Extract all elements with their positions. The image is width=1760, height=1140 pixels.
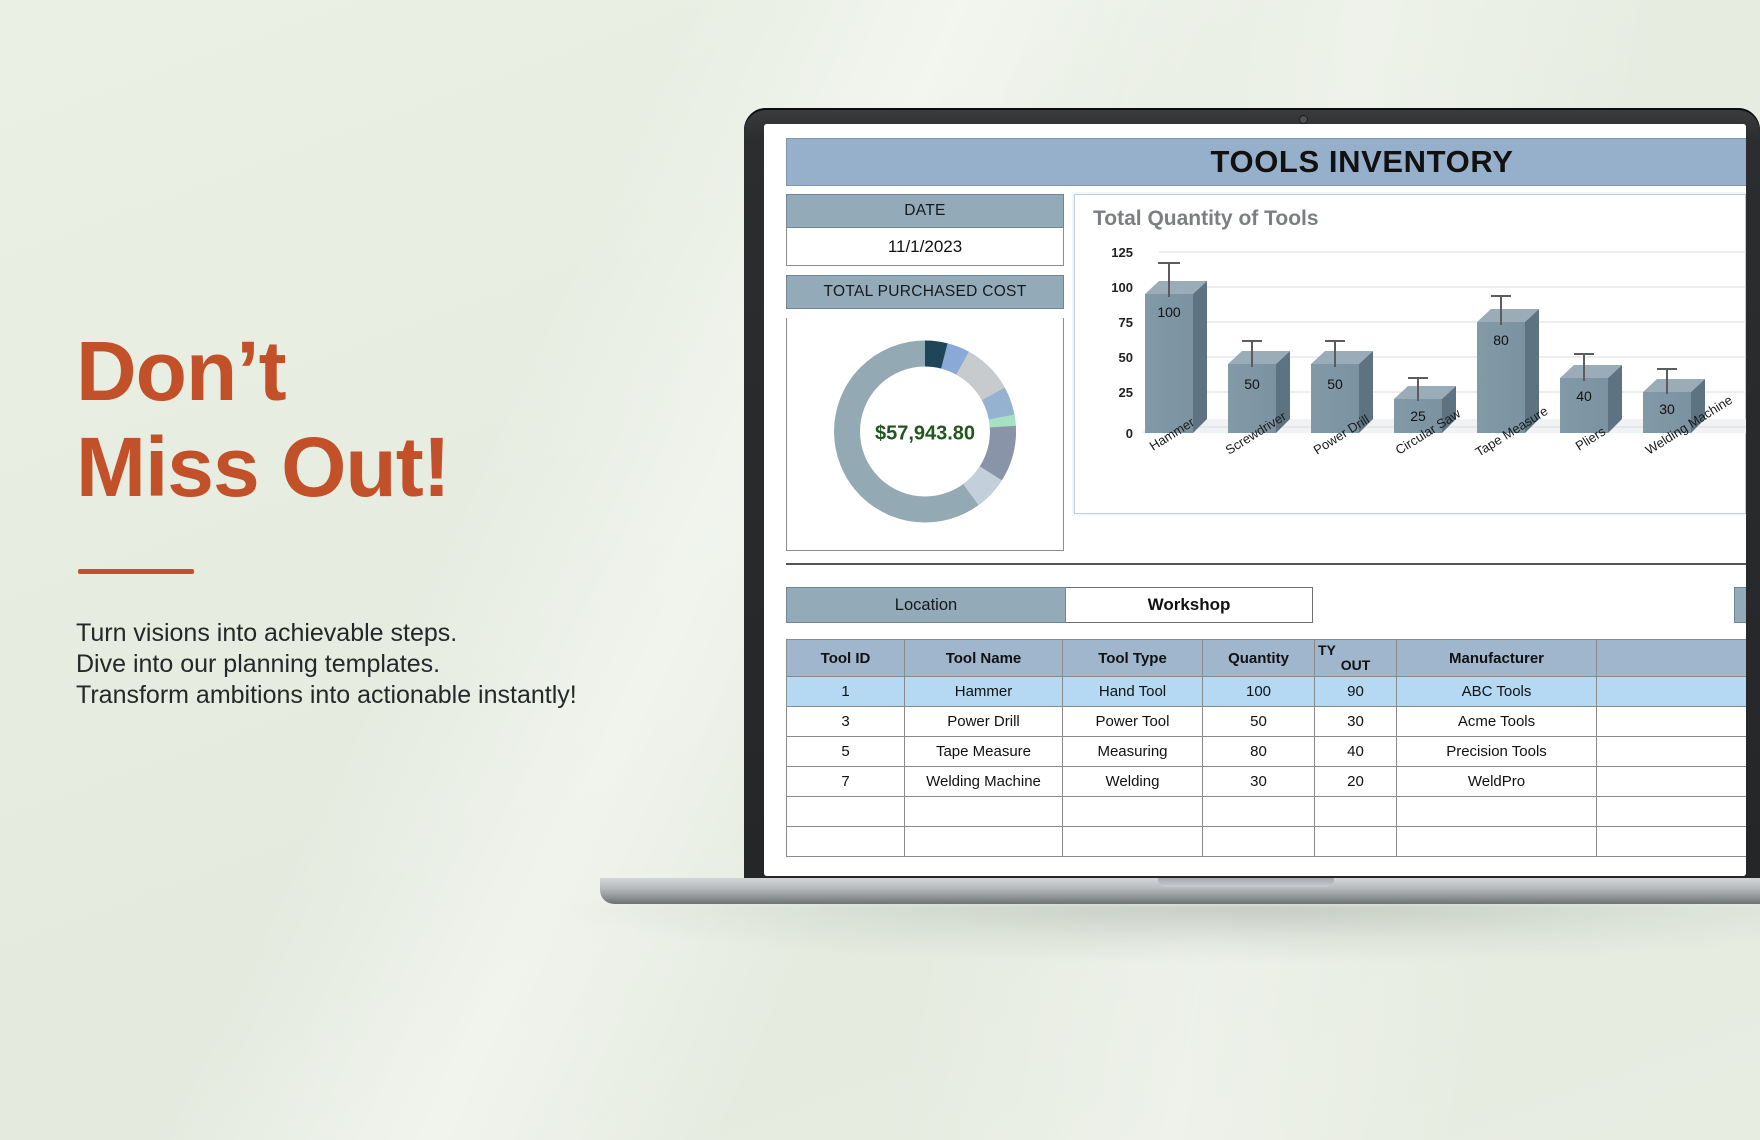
table-row: 3 Power Drill Power Tool 50 30 Acme Tool… bbox=[787, 707, 1747, 737]
svg-text:0: 0 bbox=[1126, 426, 1133, 441]
svg-text:30: 30 bbox=[1659, 401, 1675, 417]
svg-text:40: 40 bbox=[1576, 388, 1592, 404]
bar-hammer: 100 bbox=[1145, 263, 1207, 433]
cell-qty-out[interactable]: 40 bbox=[1315, 737, 1397, 767]
bar-pliers: 40 bbox=[1560, 354, 1622, 433]
laptop-base-notch bbox=[1158, 878, 1334, 887]
promo-body-line1: Turn visions into achievable steps. bbox=[76, 618, 736, 649]
svg-text:25: 25 bbox=[1410, 408, 1426, 424]
cell-extra[interactable] bbox=[1597, 707, 1747, 737]
sheet-title: TOOLS INVENTORY bbox=[1211, 144, 1514, 180]
cell-quantity[interactable]: 50 bbox=[1203, 707, 1315, 737]
section-divider bbox=[786, 563, 1746, 565]
cell-qty-out[interactable]: 90 bbox=[1315, 677, 1397, 707]
svg-text:100: 100 bbox=[1111, 280, 1133, 295]
cell-manufacturer[interactable]: Acme Tools bbox=[1397, 707, 1597, 737]
cell-extra[interactable] bbox=[1597, 737, 1747, 767]
svg-text:125: 125 bbox=[1111, 245, 1133, 260]
cell-tool-type[interactable]: Welding bbox=[1063, 767, 1203, 797]
col-manufacturer[interactable]: Manufacturer bbox=[1397, 640, 1597, 677]
cell-tool-type[interactable]: Measuring bbox=[1063, 737, 1203, 767]
bar-chart-title: Total Quantity of Tools bbox=[1093, 207, 1319, 231]
cell-quantity[interactable]: 100 bbox=[1203, 677, 1315, 707]
cost-label: TOTAL PURCHASED COST bbox=[786, 275, 1064, 309]
cell-manufacturer[interactable]: ABC Tools bbox=[1397, 677, 1597, 707]
secondary-filter-label: I bbox=[1734, 587, 1746, 623]
laptop-shadow bbox=[554, 904, 1760, 962]
dashboard-top-row: DATE 11/1/2023 TOTAL PURCHASED COST bbox=[786, 194, 1746, 551]
location-filter-row: Location Workshop I bbox=[786, 587, 1746, 623]
cell-qty-out[interactable]: 30 bbox=[1315, 707, 1397, 737]
cell-extra[interactable] bbox=[1597, 827, 1747, 857]
col-tool-id[interactable]: Tool ID bbox=[787, 640, 905, 677]
date-label: DATE bbox=[786, 194, 1064, 228]
col-qty-out-bottom: OUT bbox=[1316, 658, 1395, 673]
cell-qty-out[interactable] bbox=[1315, 827, 1397, 857]
promo-body: Turn visions into achievable steps. Dive… bbox=[76, 618, 736, 711]
cell-extra[interactable] bbox=[1597, 767, 1747, 797]
svg-text:100: 100 bbox=[1157, 304, 1181, 320]
cell-tool-type[interactable]: Hand Tool bbox=[1063, 677, 1203, 707]
promo-headline: Don’t Miss Out! bbox=[76, 330, 736, 509]
svg-text:50: 50 bbox=[1327, 376, 1343, 392]
col-tool-type[interactable]: Tool Type bbox=[1063, 640, 1203, 677]
cell-tool-id[interactable]: 1 bbox=[787, 677, 905, 707]
cell-tool-type[interactable] bbox=[1063, 797, 1203, 827]
promo-divider-rule bbox=[78, 569, 194, 574]
cell-tool-id[interactable]: 5 bbox=[787, 737, 905, 767]
cell-quantity[interactable] bbox=[1203, 827, 1315, 857]
table-row: 5 Tape Measure Measuring 80 40 Precision… bbox=[787, 737, 1747, 767]
cell-manufacturer[interactable] bbox=[1397, 827, 1597, 857]
cell-tool-name[interactable]: Hammer bbox=[905, 677, 1063, 707]
svg-text:75: 75 bbox=[1119, 315, 1133, 330]
bar-chart-plot: 125 100 75 50 25 0 bbox=[1089, 241, 1745, 513]
tools-inventory-table: Tool ID Tool Name Tool Type Quantity TY … bbox=[786, 639, 1746, 857]
laptop-lid: TOOLS INVENTORY DATE 11/1/2023 TOTAL PUR… bbox=[744, 108, 1760, 886]
cell-quantity[interactable]: 80 bbox=[1203, 737, 1315, 767]
table-header-row: Tool ID Tool Name Tool Type Quantity TY … bbox=[787, 640, 1747, 677]
cell-qty-out[interactable] bbox=[1315, 797, 1397, 827]
donut-center-value: $57,943.80 bbox=[875, 423, 975, 446]
filter-spacer bbox=[1313, 587, 1734, 623]
col-qty-out-top: TY bbox=[1316, 643, 1395, 658]
cell-extra[interactable] bbox=[1597, 677, 1747, 707]
bar-chart-panel: Total Quantity of Tools bbox=[1074, 194, 1746, 514]
promo-headline-line1: Don’t bbox=[76, 324, 286, 418]
cell-tool-type[interactable] bbox=[1063, 827, 1203, 857]
cell-qty-out[interactable]: 20 bbox=[1315, 767, 1397, 797]
cell-tool-id[interactable] bbox=[787, 797, 905, 827]
laptop-mockup: TOOLS INVENTORY DATE 11/1/2023 TOTAL PUR… bbox=[744, 108, 1760, 886]
table-row: 7 Welding Machine Welding 30 20 WeldPro bbox=[787, 767, 1747, 797]
col-extra[interactable] bbox=[1597, 640, 1747, 677]
cell-tool-id[interactable]: 3 bbox=[787, 707, 905, 737]
summary-column: DATE 11/1/2023 TOTAL PURCHASED COST bbox=[786, 194, 1064, 551]
svg-text:50: 50 bbox=[1244, 376, 1260, 392]
laptop-screen: TOOLS INVENTORY DATE 11/1/2023 TOTAL PUR… bbox=[764, 124, 1746, 876]
cell-tool-id[interactable]: 7 bbox=[787, 767, 905, 797]
table-row bbox=[787, 827, 1747, 857]
table-row bbox=[787, 797, 1747, 827]
cell-extra[interactable] bbox=[1597, 797, 1747, 827]
cell-manufacturer[interactable]: WeldPro bbox=[1397, 767, 1597, 797]
table-body: 1 Hammer Hand Tool 100 90 ABC Tools 3 Po… bbox=[787, 677, 1747, 857]
cell-quantity[interactable] bbox=[1203, 797, 1315, 827]
location-filter-value[interactable]: Workshop bbox=[1066, 587, 1313, 623]
cell-manufacturer[interactable] bbox=[1397, 797, 1597, 827]
svg-text:50: 50 bbox=[1119, 350, 1133, 365]
donut-chart-panel: $57,943.80 bbox=[786, 318, 1064, 551]
laptop-base bbox=[600, 878, 1760, 904]
date-value[interactable]: 11/1/2023 bbox=[786, 228, 1064, 266]
cell-quantity[interactable]: 30 bbox=[1203, 767, 1315, 797]
svg-text:80: 80 bbox=[1493, 332, 1509, 348]
cell-tool-name[interactable]: Power Drill bbox=[905, 707, 1063, 737]
promo-headline-line2: Miss Out! bbox=[76, 426, 736, 508]
spreadsheet-canvas: TOOLS INVENTORY DATE 11/1/2023 TOTAL PUR… bbox=[764, 124, 1746, 876]
cell-tool-name[interactable] bbox=[905, 827, 1063, 857]
promo-block: Don’t Miss Out! Turn visions into achiev… bbox=[76, 330, 736, 711]
table-row: 1 Hammer Hand Tool 100 90 ABC Tools bbox=[787, 677, 1747, 707]
sheet-title-bar: TOOLS INVENTORY bbox=[786, 138, 1746, 186]
svg-text:25: 25 bbox=[1119, 385, 1133, 400]
promo-body-line2: Dive into our planning templates. bbox=[76, 649, 736, 680]
cell-tool-name[interactable]: Welding Machine bbox=[905, 767, 1063, 797]
cell-tool-name[interactable] bbox=[905, 797, 1063, 827]
cell-tool-type[interactable]: Power Tool bbox=[1063, 707, 1203, 737]
cell-manufacturer[interactable]: Precision Tools bbox=[1397, 737, 1597, 767]
col-tool-name[interactable]: Tool Name bbox=[905, 640, 1063, 677]
col-qty-out[interactable]: TY OUT bbox=[1315, 640, 1397, 677]
cell-tool-name[interactable]: Tape Measure bbox=[905, 737, 1063, 767]
location-filter-label: Location bbox=[786, 587, 1066, 623]
col-quantity[interactable]: Quantity bbox=[1203, 640, 1315, 677]
bar-chart-svg: 125 100 75 50 25 0 bbox=[1089, 241, 1746, 503]
webcam-icon bbox=[1300, 116, 1307, 123]
promo-body-line3: Transform ambitions into actionable inst… bbox=[76, 680, 736, 711]
cell-tool-id[interactable] bbox=[787, 827, 905, 857]
